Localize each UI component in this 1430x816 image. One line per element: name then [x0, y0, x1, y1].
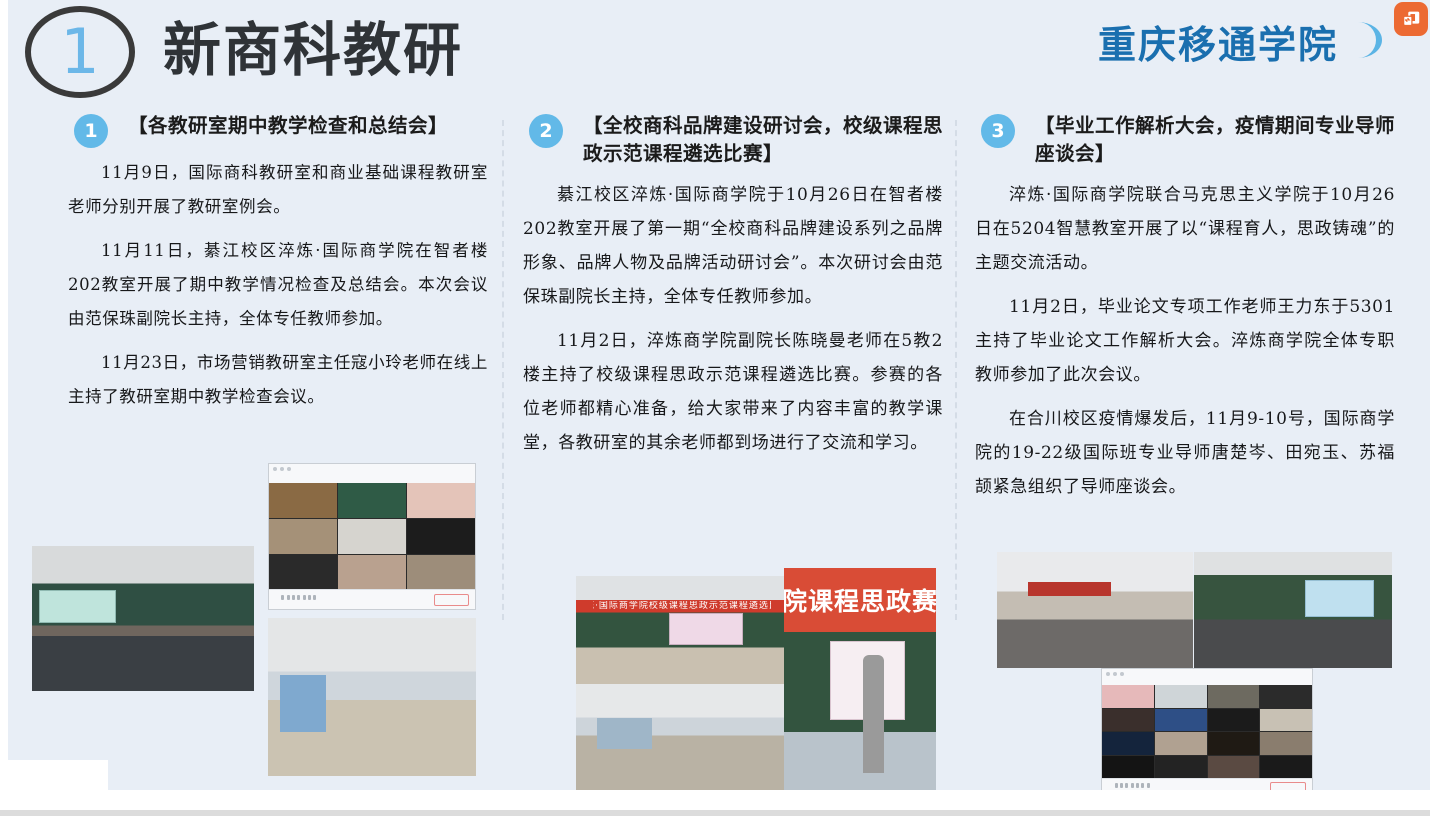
meeting-window-titlebar: [269, 464, 475, 484]
column-3: 3 【毕业工作解析大会，疫情期间专业导师座谈会】 淬炼·国际商学院联合马克思主义…: [975, 112, 1395, 504]
section-3-paragraph-2: 11月2日，毕业论文专项工作老师王力东于5301主持了毕业论文工作解析大会。淬炼…: [975, 290, 1395, 392]
left-bottom-notch: [8, 760, 108, 790]
presenter-figure: [863, 655, 884, 774]
meeting-participant-grid: [269, 483, 475, 590]
section-1-paragraph-2: 11月11日，綦江校区淬炼·国际商学院在智者楼202教室开展了期中教学情况检查及…: [68, 234, 488, 336]
seminar-participant-grid: [1102, 685, 1312, 778]
column-1: 1 【各教研室期中教学检查和总结会】 11月9日，国际商科教研室和商业基础课程教…: [68, 112, 488, 414]
section-badge-1: 1: [74, 114, 108, 148]
section-1-header: 1 【各教研室期中教学检查和总结会】: [68, 112, 488, 146]
photo-online-seminar-grid: [1101, 668, 1313, 790]
section-1-paragraph-1: 11月9日，国际商科教研室和商业基础课程教研室老师分别开展了教研室例会。: [68, 156, 488, 224]
section-badge-2: 2: [529, 114, 563, 148]
meeting-toolbar[interactable]: [269, 589, 475, 609]
column-divider-1: [502, 120, 504, 620]
photo-lecture-projection: [1194, 552, 1392, 668]
seminar-tool-icons[interactable]: [1115, 783, 1150, 788]
photo-conference-hall: [997, 552, 1193, 668]
photo-lecture-hall: [32, 546, 254, 691]
slide-number-text: 1: [31, 12, 129, 92]
brand-name: 重庆移通学院: [1098, 14, 1338, 69]
column-divider-2: [955, 120, 957, 620]
page-title: 新商科教研: [163, 8, 463, 92]
seminar-banner-text: 淬炼·国际商学院校级课程思政示范课程遴选比赛: [593, 601, 771, 611]
photo-audience-classroom: [576, 684, 788, 790]
section-2-header: 2 【全校商科品牌建设研讨会，校级课程思政示范课程遴选比赛】: [523, 112, 943, 168]
section-title-2: 【全校商科品牌建设研讨会，校级课程思政示范课程遴选比赛】: [583, 112, 943, 168]
window-dots-icon: [1106, 672, 1124, 676]
section-title-3: 【毕业工作解析大会，疫情期间专业导师座谈会】: [1035, 112, 1395, 168]
ppt-convert-icon[interactable]: [1394, 2, 1428, 36]
section-2-paragraph-1: 綦江校区淬炼·国际商学院于10月26日在智者楼202教室开展了第一期“全校商科品…: [523, 178, 943, 314]
section-3-paragraph-1: 淬炼·国际商学院联合马克思主义学院于10月26日在5204智慧教室开展了以“课程…: [975, 178, 1395, 280]
projector-screen: [669, 613, 743, 645]
section-3-header: 3 【毕业工作解析大会，疫情期间专业导师座谈会】: [975, 112, 1395, 168]
section-2-paragraph-2: 11月2日，淬炼商学院副院长陈晓曼老师在5教2楼主持了校级课程思政示范课程遴选比…: [523, 324, 943, 460]
photo-online-meeting-grid: [268, 463, 476, 610]
slide-number-circle: 1: [25, 6, 135, 98]
bottom-edge-strip: [0, 810, 1430, 816]
seminar-toolbar[interactable]: [1102, 778, 1312, 790]
section-3-paragraph-3: 在合川校区疫情爆发后，11月9-10号，国际商学院的19-22级国际班专业导师唐…: [975, 402, 1395, 504]
section-1-paragraph-3: 11月23日，市场营销教研室主任寇小玲老师在线上主持了教研室期中教学检查会议。: [68, 346, 488, 414]
leave-seminar-button[interactable]: [1270, 782, 1306, 790]
meeting-tool-icons[interactable]: [281, 595, 316, 600]
section-title-1: 【各教研室期中教学检查和总结会】: [128, 112, 488, 140]
leave-meeting-button[interactable]: [434, 594, 469, 606]
slide-canvas: 1 新商科教研 重庆移通学院 1 【各教研室期中教学检查和总结会】 11月9日，…: [8, 0, 1430, 790]
photo-seminar-banner: 淬炼·国际商学院校级课程思政示范课程遴选比赛: [576, 576, 788, 684]
seminar-window-titlebar: [1102, 669, 1312, 686]
competition-banner-text: 学院课程思政赛课: [784, 573, 936, 628]
crescent-moon-icon: [1348, 18, 1392, 62]
bottom-white-band: [0, 790, 1430, 810]
photo-classroom-students: [268, 618, 476, 776]
window-dots-icon: [273, 467, 291, 471]
slide-header: 1 新商科教研 重庆移通学院: [8, 0, 1430, 105]
photo-competition-stage: 学院课程思政赛课: [784, 568, 936, 790]
column-2: 2 【全校商科品牌建设研讨会，校级课程思政示范课程遴选比赛】 綦江校区淬炼·国际…: [523, 112, 943, 460]
section-badge-3: 3: [981, 114, 1015, 148]
